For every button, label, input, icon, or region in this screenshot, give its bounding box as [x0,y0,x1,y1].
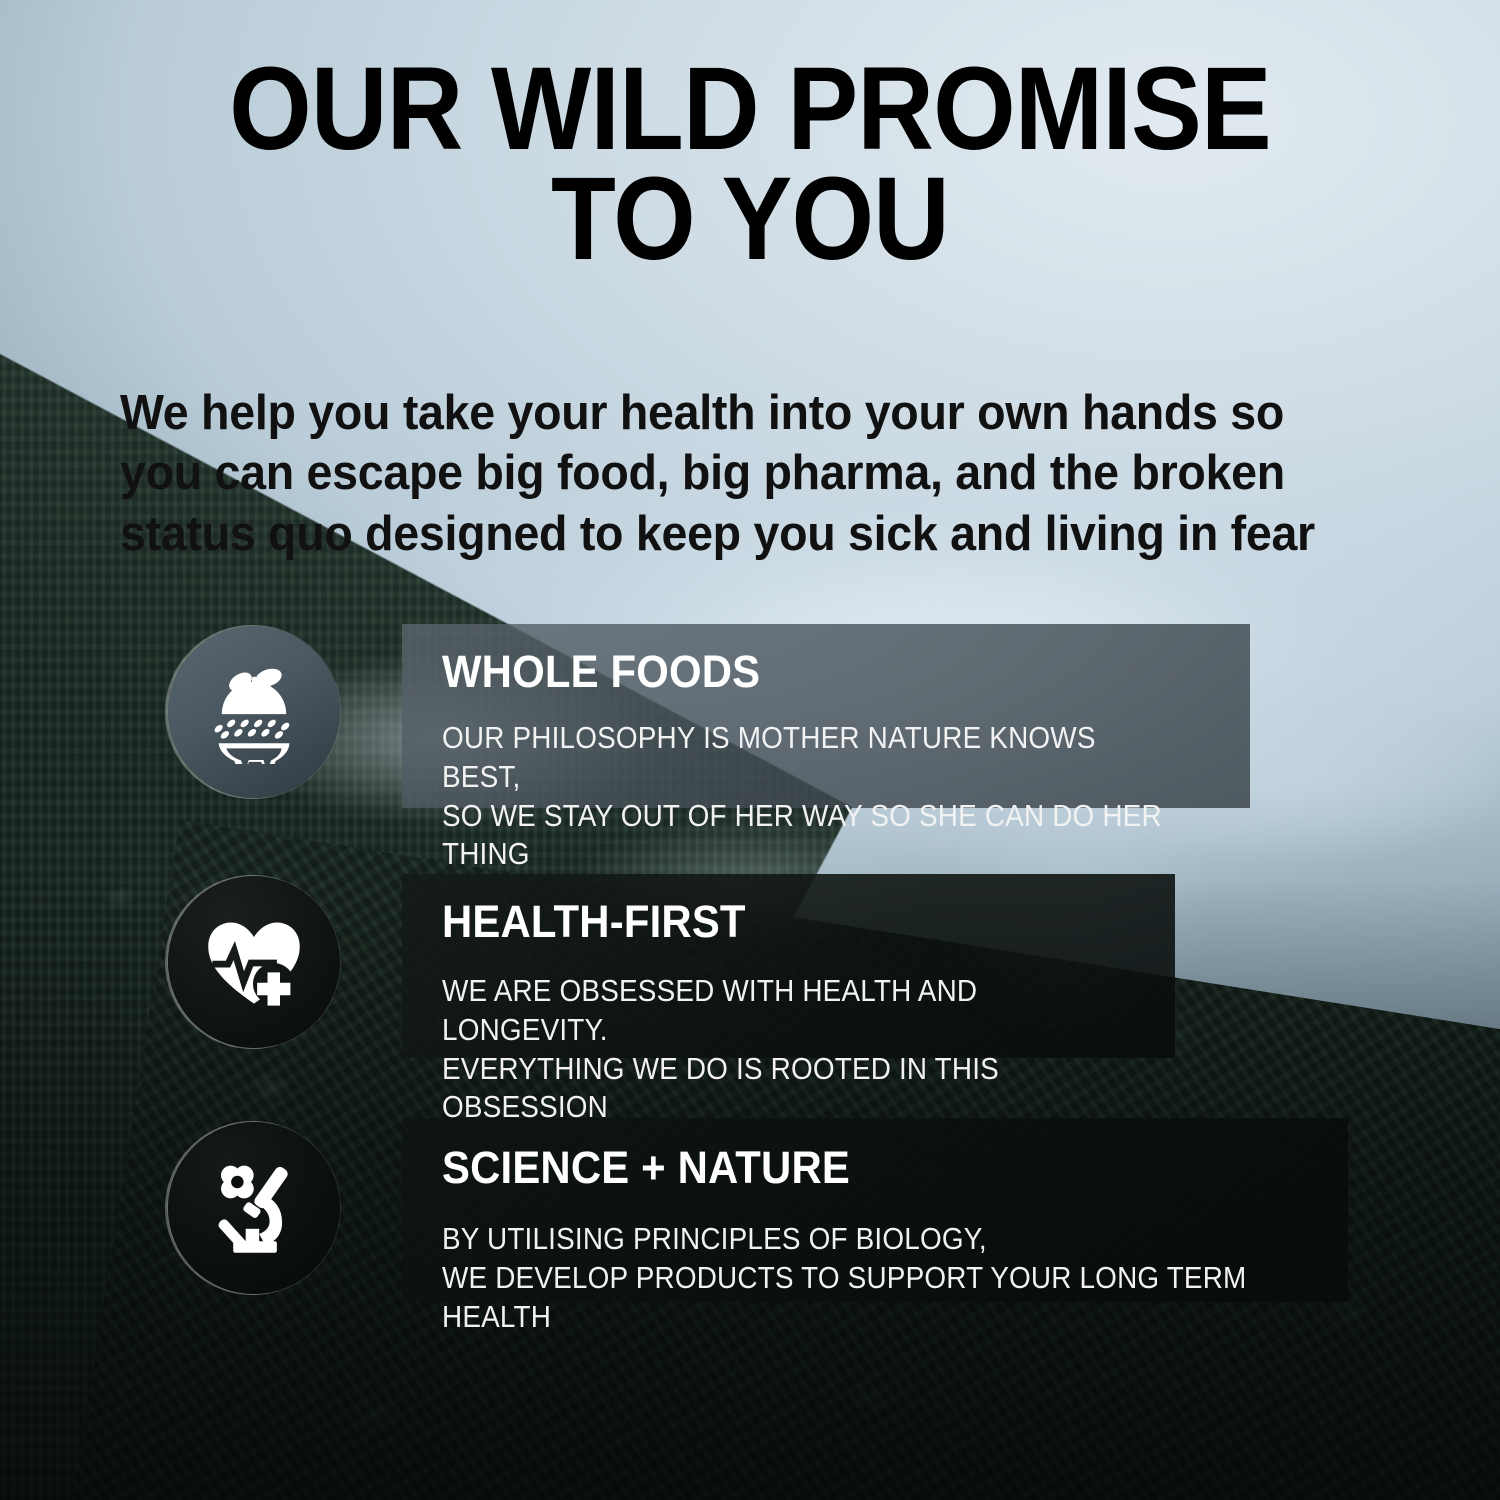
microscope-icon [168,1122,340,1294]
feature-panel-science-nature: SCIENCE + NATURE BY UTILISING PRINCIPLES… [402,1118,1348,1302]
promise-graphic: OUR WILD PROMISE TO YOU We help you take… [0,0,1500,1500]
feature-description: OUR PHILOSOPHY IS MOTHER NATURE KNOWS BE… [442,719,1169,874]
sprouting-grain-bowl-icon [168,626,340,798]
feature-title: WHOLE FOODS [442,649,1193,694]
feature-description: WE ARE OBSESSED WITH HEALTH AND LONGEVIT… [442,972,1102,1127]
page-title: OUR WILD PROMISE TO YOU [75,55,1425,274]
subheading: We help you take your health into your o… [120,383,1346,564]
feature-panel-whole-foods: WHOLE FOODS OUR PHILOSOPHY IS MOTHER NAT… [402,624,1250,808]
feature-panel-health-first: HEALTH-FIRST WE ARE OBSESSED WITH HEALTH… [402,874,1175,1058]
headline-line-2: TO YOU [111,165,1389,275]
feature-description: BY UTILISING PRINCIPLES OF BIOLOGY, WE D… [442,1220,1257,1336]
feature-title: SCIENCE + NATURE [442,1145,1285,1190]
headline-line-1: OUR WILD PROMISE [111,55,1389,165]
heart-pulse-plus-icon [168,876,340,1048]
feature-title: HEALTH-FIRST [442,899,1124,944]
